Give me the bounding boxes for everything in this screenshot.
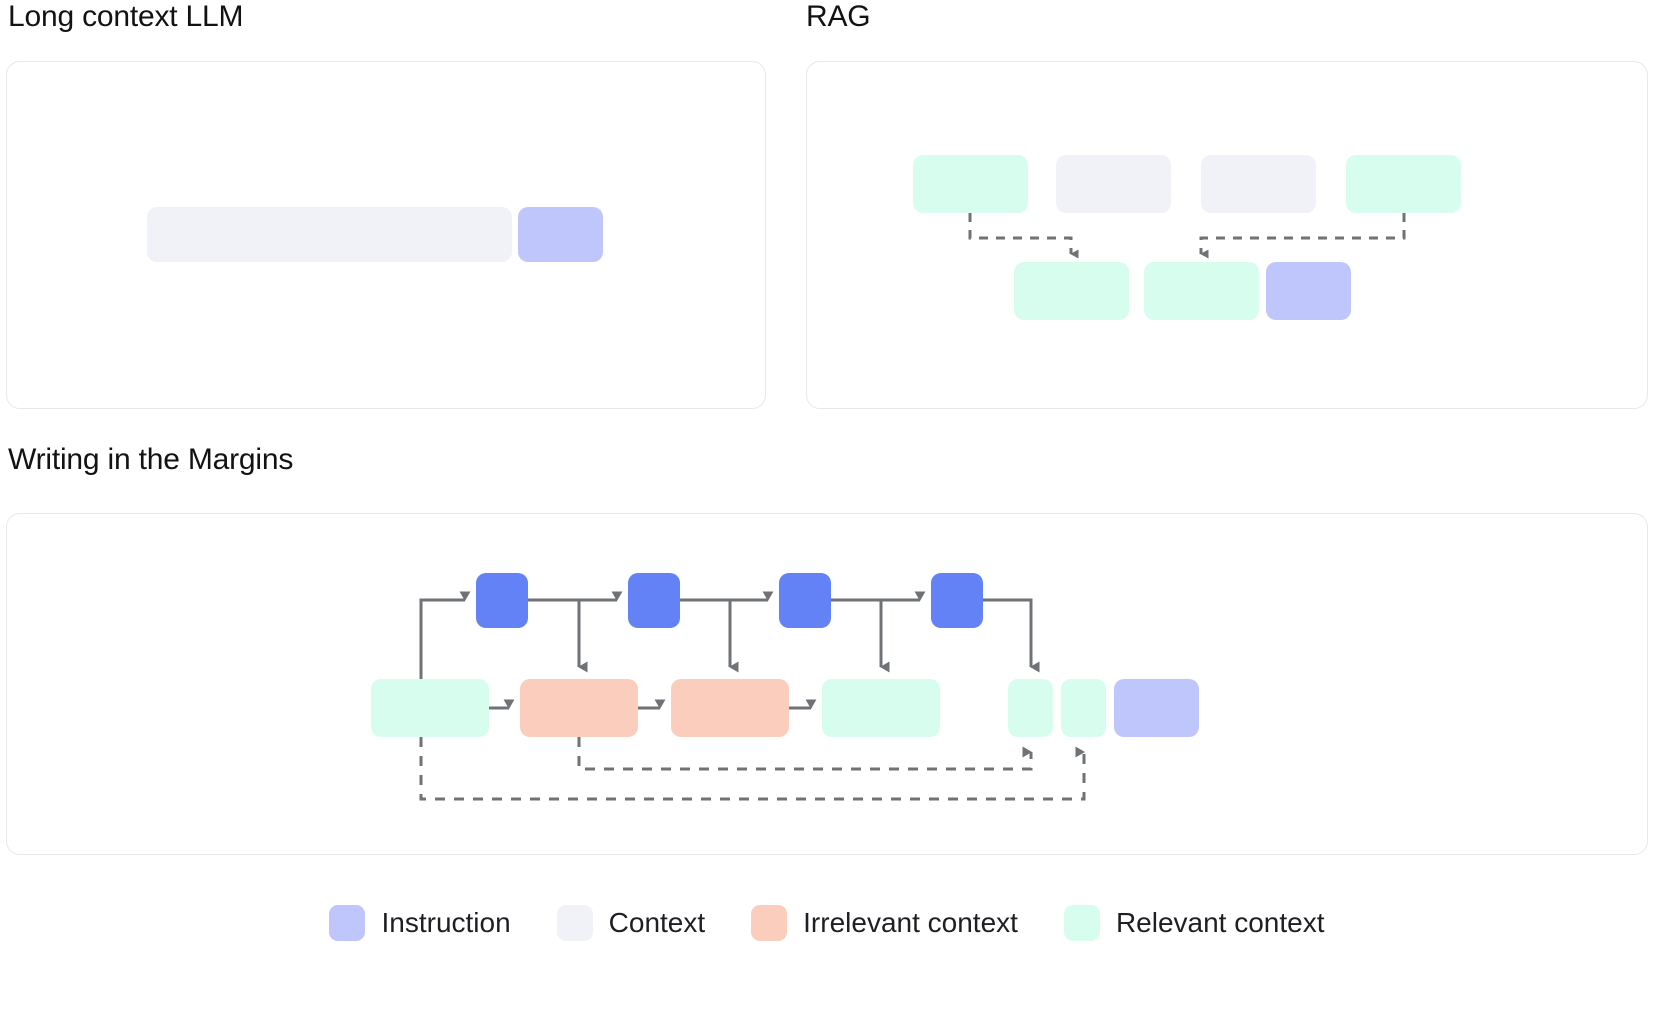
rag-context-chunk-1 bbox=[1056, 155, 1171, 213]
legend-label-context: Context bbox=[609, 907, 706, 939]
wim-instruction-block bbox=[1114, 679, 1199, 737]
legend-swatch-context bbox=[557, 905, 593, 941]
wim-segment-irrelevant-1 bbox=[520, 679, 638, 737]
legend-item-instruction: Instruction bbox=[329, 905, 510, 941]
legend-item-relevant-context: Relevant context bbox=[1064, 905, 1325, 941]
legend-swatch-irrelevant-context bbox=[751, 905, 787, 941]
legend-label-irrelevant-context: Irrelevant context bbox=[803, 907, 1018, 939]
rag-instruction-block bbox=[1266, 262, 1351, 320]
legend-label-relevant-context: Relevant context bbox=[1116, 907, 1325, 939]
wim-segment-relevant-2 bbox=[822, 679, 940, 737]
panel-writing-in-the-margins bbox=[6, 513, 1648, 855]
wim-instruction-step-3 bbox=[779, 573, 831, 628]
panel-long-context-llm bbox=[6, 61, 766, 409]
wim-segment-irrelevant-2 bbox=[671, 679, 789, 737]
legend-swatch-instruction bbox=[329, 905, 365, 941]
rag-relevant-chunk-2 bbox=[1346, 155, 1461, 213]
panel-rag bbox=[806, 61, 1648, 409]
legend-item-context: Context bbox=[557, 905, 706, 941]
wim-margin-note-1 bbox=[1008, 679, 1053, 737]
rag-retrieved-relevant-1 bbox=[1014, 262, 1129, 320]
rag-retrieved-relevant-2 bbox=[1144, 262, 1259, 320]
panel-title-writing-in-the-margins: Writing in the Margins bbox=[8, 443, 293, 477]
legend-item-irrelevant-context: Irrelevant context bbox=[751, 905, 1018, 941]
wim-instruction-step-4 bbox=[931, 573, 983, 628]
panel-title-long-context-llm: Long context LLM bbox=[8, 0, 243, 34]
lc-instruction-block bbox=[518, 207, 603, 262]
legend-label-instruction: Instruction bbox=[381, 907, 510, 939]
legend-swatch-relevant-context bbox=[1064, 905, 1100, 941]
figure-root: Long context LLM RAG Writing bbox=[0, 0, 1654, 1009]
wim-segment-relevant-1 bbox=[371, 679, 489, 737]
wim-margin-note-2 bbox=[1061, 679, 1106, 737]
wim-instruction-step-2 bbox=[628, 573, 680, 628]
rag-context-chunk-2 bbox=[1201, 155, 1316, 213]
wim-instruction-step-1 bbox=[476, 573, 528, 628]
legend: Instruction Context Irrelevant context R… bbox=[0, 905, 1654, 941]
lc-context-block bbox=[147, 207, 512, 262]
rag-retrieval-edges bbox=[807, 62, 1649, 410]
panel-title-rag: RAG bbox=[806, 0, 870, 34]
rag-relevant-chunk-1 bbox=[913, 155, 1028, 213]
